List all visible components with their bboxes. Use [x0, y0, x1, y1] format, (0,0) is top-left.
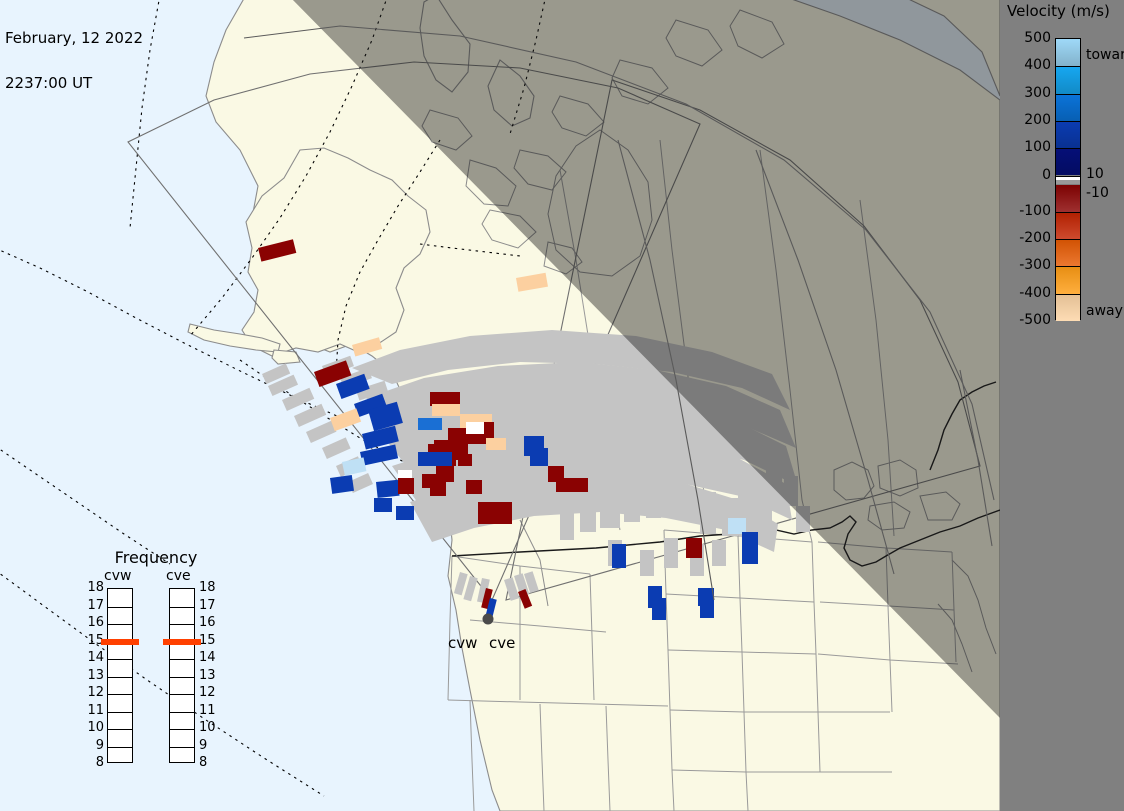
colorbar-band-toward-1 [1056, 66, 1080, 93]
frequency-tick-cve-14 [170, 659, 194, 660]
colorbar-divider [1056, 239, 1080, 240]
frequency-tick-cvw-9 [108, 747, 132, 748]
colorbar-divider [1056, 212, 1080, 213]
colorbar-band-toward-0 [1056, 39, 1080, 66]
frequency-scale-left-9: 9 [86, 741, 104, 751]
colorbar-tick--300: -300 [1019, 260, 1051, 270]
frequency-scale-left-8: 8 [86, 758, 104, 768]
frequency-scale-left-12: 12 [86, 688, 104, 698]
frequency-marker-cve [163, 639, 201, 645]
velocity-colorbar: Velocity (m/s) 5004003002001000-100-200-… [1004, 0, 1124, 811]
frequency-tick-cvw-17 [108, 607, 132, 608]
colorbar-tick-400: 400 [1024, 60, 1051, 70]
frequency-tick-cve-17 [170, 607, 194, 608]
frequency-tick-cve-10 [170, 729, 194, 730]
colorbar-tick-300: 300 [1024, 88, 1051, 98]
frequency-scale-right-17: 17 [199, 601, 216, 611]
colorbar-band-away-2 [1056, 239, 1080, 266]
frequency-bar-cve [169, 588, 195, 763]
radar-label-cve: cve [489, 634, 515, 652]
frequency-tick-cvw-14 [108, 659, 132, 660]
frequency-scale-right-16: 16 [199, 618, 216, 628]
frequency-scale-right-8: 8 [199, 758, 207, 768]
frequency-scale-left-14: 14 [86, 653, 104, 663]
radar-label-cvw: cvw [448, 634, 477, 652]
frequency-scale-right-13: 13 [199, 671, 216, 681]
colorbar-band-away-0 [1056, 185, 1080, 212]
timestamp-date: February, 12 2022 [5, 31, 143, 46]
colorbar-tick--200: -200 [1019, 233, 1051, 243]
frequency-tick-cve-9 [170, 747, 194, 748]
frequency-tick-cvw-11 [108, 712, 132, 713]
colorbar-band-toward-4 [1056, 148, 1080, 175]
frequency-scale-right-11: 11 [199, 706, 216, 716]
colorbar-tick--100: -100 [1019, 206, 1051, 216]
colorbar-tick-100: 100 [1024, 142, 1051, 152]
land-aleutian-island [272, 350, 300, 364]
frequency-tick-cvw-13 [108, 677, 132, 678]
frequency-scale-left-11: 11 [86, 706, 104, 716]
colorbar-tick-0: 0 [1042, 170, 1051, 180]
colorbar-divider [1056, 94, 1080, 95]
frequency-tick-cve-13 [170, 677, 194, 678]
frequency-column-label-cvw: cvw [104, 568, 131, 584]
colorbar-label-away: away [1086, 306, 1123, 316]
frequency-scale-right-10: 10 [199, 723, 216, 733]
frequency-legend: Frequency cvw cve 1818171716161515141413… [86, 548, 226, 778]
frequency-scale-right-12: 12 [199, 688, 216, 698]
frequency-scale-left-13: 13 [86, 671, 104, 681]
colorbar-divider [1056, 266, 1080, 267]
colorbar-divider [1056, 66, 1080, 67]
timestamp-time: 2237:00 UT [5, 76, 143, 91]
frequency-column-label-cve: cve [166, 568, 191, 584]
colorbar-tick-200: 200 [1024, 115, 1051, 125]
colorbar-band-toward-3 [1056, 121, 1080, 148]
frequency-tick-cve-11 [170, 712, 194, 713]
radar-site-marker [483, 614, 494, 625]
frequency-scale-right-18: 18 [199, 583, 216, 593]
frequency-tick-cvw-16 [108, 624, 132, 625]
colorbar-band-away-3 [1056, 266, 1080, 293]
frequency-scale-right-15: 15 [199, 636, 216, 646]
colorbar-divider [1056, 148, 1080, 149]
colorbar-band-away-1 [1056, 212, 1080, 239]
frequency-legend-title: Frequency [86, 548, 226, 567]
frequency-scale-right-14: 14 [199, 653, 216, 663]
frequency-scale-left-16: 16 [86, 618, 104, 628]
colorbar-tick--500: -500 [1019, 315, 1051, 325]
frequency-scale-right-9: 9 [199, 741, 207, 751]
frequency-scale-left-17: 17 [86, 601, 104, 611]
colorbar-title: Velocity (m/s) [1004, 2, 1124, 20]
colorbar-label-toward: toward [1086, 50, 1124, 60]
frequency-scale-left-18: 18 [86, 583, 104, 593]
colorbar-divider [1056, 176, 1080, 177]
frequency-tick-cvw-10 [108, 729, 132, 730]
colorbar-tick-500: 500 [1024, 33, 1051, 43]
frequency-tick-cve-16 [170, 624, 194, 625]
colorbar-tick--400: -400 [1019, 288, 1051, 298]
colorbar-band-away-4 [1056, 294, 1080, 321]
colorbar-divider [1056, 121, 1080, 122]
colorbar-divider [1056, 294, 1080, 295]
colorbar-band-toward-2 [1056, 94, 1080, 121]
frequency-scale-left-10: 10 [86, 723, 104, 733]
colorbar-label-neg10: -10 [1086, 188, 1109, 198]
frequency-tick-cve-12 [170, 694, 194, 695]
frequency-bar-cvw [107, 588, 133, 763]
frequency-marker-cvw [101, 639, 139, 645]
colorbar-label-pos10: 10 [1086, 169, 1104, 179]
colorbar-box [1055, 38, 1081, 320]
timestamp: February, 12 2022 2237:00 UT [5, 1, 143, 121]
frequency-tick-cvw-12 [108, 694, 132, 695]
